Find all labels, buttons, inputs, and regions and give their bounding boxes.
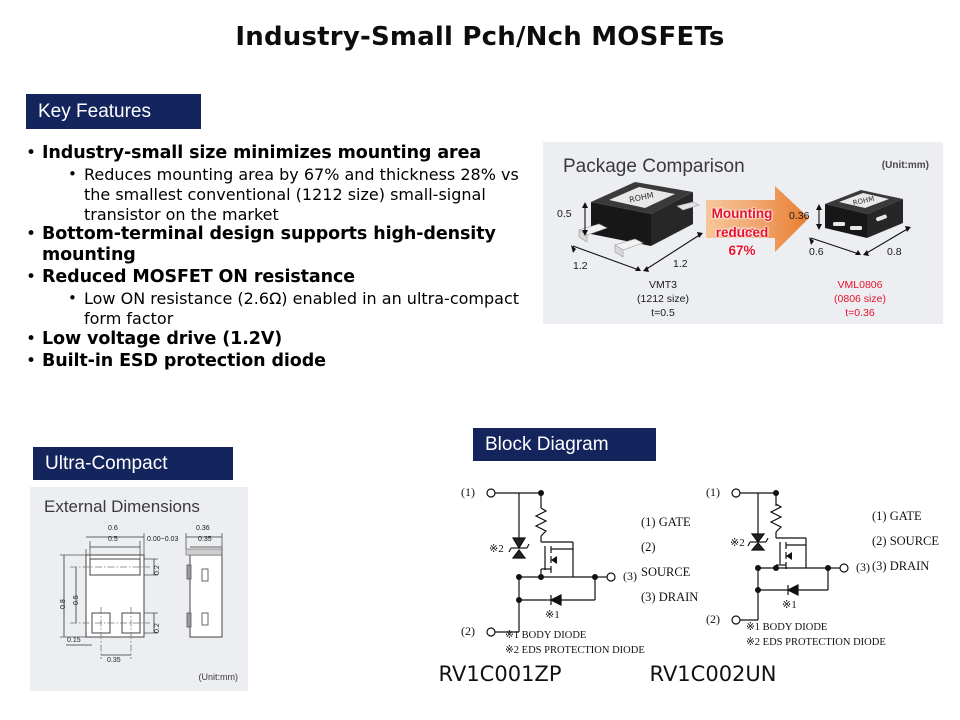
right-package-thickness: t=0.36 xyxy=(795,306,925,320)
bullet-marker-icon: • xyxy=(26,143,42,164)
port-label-3: (3) xyxy=(623,569,637,584)
bullet-marker-icon: • xyxy=(68,289,84,307)
left-package-depth-dim: 1.2 xyxy=(673,258,688,270)
pin-legend: (1) GATE (2) SOURCE (3) DRAIN xyxy=(641,510,705,610)
list-item-text: Industry-small size minimizes mounting a… xyxy=(42,143,481,164)
arrow-label-line2: reduced 67% xyxy=(703,224,781,260)
list-item: • Low voltage drive (1.2V) xyxy=(26,329,526,350)
list-item: • Built-in ESD protection diode xyxy=(26,351,526,372)
pin-legend-drain: (3) DRAIN xyxy=(641,585,705,610)
right-package-width-dim: 0.6 xyxy=(809,246,824,258)
bullet-marker-icon: • xyxy=(26,351,42,372)
part-number-left: RV1C001ZP xyxy=(400,662,600,686)
note-esd-diode: ※2 EDS PROTECTION DIODE xyxy=(746,635,886,650)
list-item: • Industry-small size minimizes mounting… xyxy=(26,143,526,164)
bullet-marker-icon: • xyxy=(26,329,42,350)
schematic-rv1c001zp: (1) (2) (3) ※2 ※1 (1) GATE (2) SOURCE (3… xyxy=(455,480,705,650)
list-item-text: Reduced MOSFET ON resistance xyxy=(42,267,355,288)
left-package-caption: VMT3 (1212 size) t=0.5 xyxy=(593,278,733,321)
left-package-name: VMT3 xyxy=(593,278,733,292)
pin-legend-source: (2) SOURCE xyxy=(872,529,939,554)
pin-legend-gate: (1) GATE xyxy=(872,504,939,529)
schematic-rv1c002un: (1) (2) (3) ※2 ※1 (1) GATE (2) SOURCE (3… xyxy=(702,480,952,650)
bullet-marker-icon: • xyxy=(26,267,42,288)
external-dimensions-drawing xyxy=(30,487,248,691)
dim-bottom-center: 0.35 xyxy=(107,657,121,664)
section-header-key-features: Key Features xyxy=(26,94,201,129)
right-package-height-dim: 0.36 xyxy=(789,210,809,222)
dim-top-inner: 0.5 xyxy=(108,536,118,543)
list-item: • Bottom-terminal design supports high-d… xyxy=(26,224,526,266)
list-item-text: Reduces mounting area by 67% and thickne… xyxy=(84,165,526,224)
mark-label-2: ※2 xyxy=(489,542,504,555)
list-item-text: Low voltage drive (1.2V) xyxy=(42,329,282,350)
note-body-diode: ※1 BODY DIODE xyxy=(505,628,645,643)
port-label-2: (2) xyxy=(461,624,475,639)
port-label-3: (3) xyxy=(856,560,870,575)
mark-label-2: ※2 xyxy=(730,536,745,549)
dim-top-outer: 0.6 xyxy=(108,525,118,532)
left-package-height-dim: 0.5 xyxy=(557,208,572,220)
key-features-list: • Industry-small size minimizes mounting… xyxy=(26,143,526,373)
page-title: Industry-Small Pch/Nch MOSFETs xyxy=(0,22,960,52)
dim-side-tolerance: 0.00~0.03 xyxy=(147,536,178,543)
pin-legend: (1) GATE (2) SOURCE (3) DRAIN xyxy=(872,504,939,579)
port-label-1: (1) xyxy=(706,485,720,500)
schematic-notes: ※1 BODY DIODE ※2 EDS PROTECTION DIODE xyxy=(746,620,886,650)
section-header-key-features-label: Key Features xyxy=(38,101,151,123)
pin-legend-gate: (1) GATE xyxy=(641,510,705,535)
pin-legend-source: (2) SOURCE xyxy=(641,535,705,585)
left-package-thickness: t=0.5 xyxy=(593,306,733,320)
part-number-right: RV1C002UN xyxy=(613,662,813,686)
dim-right-lower: 0.2 xyxy=(154,623,161,633)
dim-side-outer: 0.36 xyxy=(196,525,210,532)
bullet-marker-icon: • xyxy=(26,224,42,245)
list-item-text: Low ON resistance (2.6Ω) enabled in an u… xyxy=(84,289,526,329)
pin-legend-drain: (3) DRAIN xyxy=(872,554,939,579)
dim-left-inner: 0.5 xyxy=(73,595,80,605)
mark-label-1: ※1 xyxy=(545,608,560,621)
schematic-notes: ※1 BODY DIODE ※2 EDS PROTECTION DIODE xyxy=(505,628,645,658)
note-body-diode: ※1 BODY DIODE xyxy=(746,620,886,635)
slide-root: Industry-Small Pch/Nch MOSFETs Key Featu… xyxy=(0,0,960,720)
dim-bottom-left: 0.15 xyxy=(67,637,81,644)
right-package-depth-dim: 0.8 xyxy=(887,246,902,258)
mark-label-1: ※1 xyxy=(782,598,797,611)
left-package-size: (1212 size) xyxy=(593,292,733,306)
right-package-size: (0806 size) xyxy=(795,292,925,306)
list-item: • Low ON resistance (2.6Ω) enabled in an… xyxy=(68,289,526,329)
list-item: • Reduced MOSFET ON resistance xyxy=(26,267,526,288)
bullet-marker-icon: • xyxy=(68,165,84,183)
note-esd-diode: ※2 EDS PROTECTION DIODE xyxy=(505,643,645,658)
list-item: • Reduces mounting area by 67% and thick… xyxy=(68,165,526,224)
dim-left-outer: 0.8 xyxy=(60,599,67,609)
left-package-width-dim: 1.2 xyxy=(573,260,588,272)
section-header-block-diagram-label: Block Diagram xyxy=(485,434,609,456)
package-comparison-figure: Package Comparison (Unit:mm) ROHM xyxy=(543,142,943,324)
list-item-text: Built-in ESD protection diode xyxy=(42,351,326,372)
dim-side-inner: 0.35 xyxy=(198,536,212,543)
right-package-name: VML0806 xyxy=(795,278,925,292)
external-dimensions-unit-note: (Unit:mm) xyxy=(199,672,239,682)
port-label-1: (1) xyxy=(461,485,475,500)
right-package-caption: VML0806 (0806 size) t=0.36 xyxy=(795,278,925,321)
section-header-ultra-compact: Ultra-Compact xyxy=(33,447,233,480)
section-header-ultra-compact-label: Ultra-Compact xyxy=(45,453,167,475)
dim-right-upper: 0.2 xyxy=(154,565,161,575)
list-item-text: Bottom-terminal design supports high-den… xyxy=(42,224,526,266)
port-label-2: (2) xyxy=(706,612,720,627)
external-dimensions-figure: External Dimensions xyxy=(30,487,248,691)
section-header-block-diagram: Block Diagram xyxy=(473,428,656,461)
